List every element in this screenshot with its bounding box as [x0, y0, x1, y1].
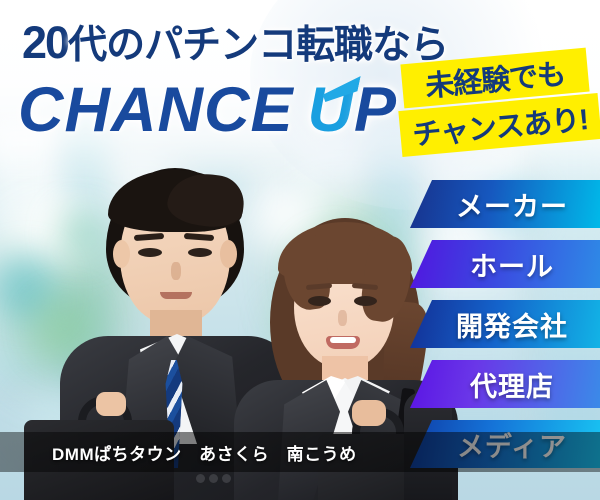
woman-hand: [352, 400, 386, 426]
brand-logo: CHANCE U P: [18, 72, 396, 148]
logo-letter-p: P: [354, 72, 396, 148]
headline-text: 代のパチンコ転職なら: [68, 24, 448, 67]
woman-nose: [338, 310, 347, 326]
category-item-agency[interactable]: 代理店: [410, 360, 600, 408]
category-label: メーカー: [442, 185, 568, 224]
ad-banner[interactable]: 20代のパチンコ転職なら CHANCE U P 未経験でも チャンスあり! メー…: [0, 0, 600, 500]
credit-bar: DMMぱちタウン あさくら 南こうめ: [0, 432, 600, 472]
woman-eye-right: [354, 296, 377, 306]
credit-text: DMMぱちタウン あさくら 南こうめ: [52, 440, 357, 465]
headline-number: 20: [22, 17, 68, 68]
man-hand: [96, 392, 126, 416]
logo-word-up: U P: [308, 72, 397, 148]
category-label: 代理店: [456, 365, 554, 404]
woman-teeth: [330, 337, 356, 343]
man-eye-left: [138, 248, 162, 257]
category-label: 開発会社: [442, 305, 568, 344]
man-nose: [171, 262, 181, 280]
man-eye-right: [188, 248, 212, 257]
man-mouth: [160, 292, 192, 299]
page-title: 20代のパチンコ転職なら: [22, 18, 452, 68]
status-badge: 未経験でも チャンスあり!: [400, 52, 600, 156]
woman-eye-left: [308, 296, 331, 306]
logo-letter-u: U: [308, 72, 354, 148]
category-item-developer[interactable]: 開発会社: [410, 300, 600, 348]
logo-word-chance: CHANCE: [18, 72, 294, 148]
category-item-maker[interactable]: メーカー: [410, 180, 600, 228]
man-ear-right: [220, 240, 237, 268]
category-label: ホール: [456, 245, 554, 284]
category-item-hall[interactable]: ホール: [410, 240, 600, 288]
man-ear-left: [113, 240, 130, 268]
